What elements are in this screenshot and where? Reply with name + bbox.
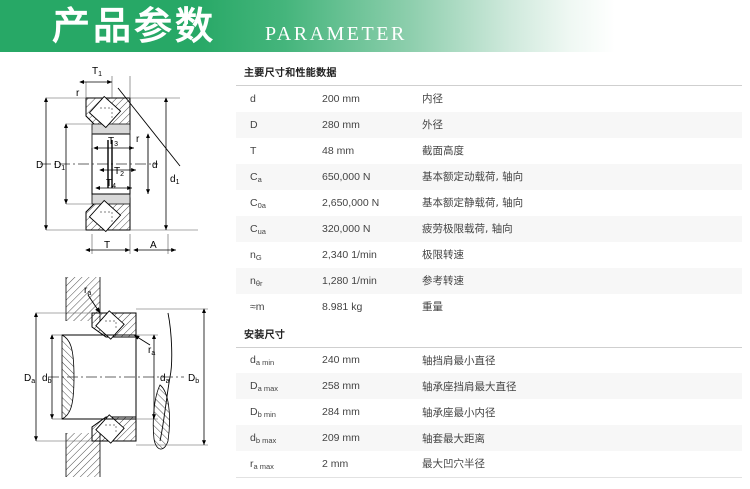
table-row: Ca 650,000 N 基本额定动载荷, 轴向	[236, 164, 742, 190]
row-symbol: da min	[236, 347, 322, 373]
row-symbol: C0a	[236, 190, 322, 216]
table-row: Db min 284 mm 轴承座最小内径	[236, 399, 742, 425]
row-description: 疲劳极限载荷, 轴向	[420, 216, 742, 242]
row-description: 轴挡肩最小直径	[420, 347, 742, 373]
row-description: 轴承座最小内径	[420, 399, 742, 425]
row-symbol: nθr	[236, 268, 322, 294]
mounting-dimensions-table: da min 240 mm 轴挡肩最小直径 Da max 258 mm 轴承座挡…	[236, 347, 742, 478]
table-row: da min 240 mm 轴挡肩最小直径	[236, 347, 742, 373]
row-value: 2,340 1/min	[322, 242, 420, 268]
dim-label-db: db	[42, 373, 52, 385]
table-row: D 280 mm 外径	[236, 112, 742, 138]
row-description: 轴套最大距离	[420, 425, 742, 451]
row-symbol: db max	[236, 425, 322, 451]
dim-label-d: d	[152, 160, 158, 171]
dim-label-D: D	[36, 160, 43, 171]
row-symbol: Cua	[236, 216, 322, 242]
row-symbol: T	[236, 138, 322, 164]
dim-label-da: da	[160, 373, 170, 385]
row-description: 轴承座挡肩最大直径	[420, 373, 742, 399]
row-description: 截面高度	[420, 138, 742, 164]
page-header: 产品参数 PARAMETER	[0, 0, 750, 52]
row-symbol: Da max	[236, 373, 322, 399]
row-description: 最大凹穴半径	[420, 451, 742, 477]
dim-label-d1: d1	[170, 174, 180, 186]
row-description: 外径	[420, 112, 742, 138]
row-description: 极限转速	[420, 242, 742, 268]
row-value: 284 mm	[322, 399, 420, 425]
row-value: 209 mm	[322, 425, 420, 451]
row-value: 2 mm	[322, 451, 420, 477]
dim-label-T: T	[104, 240, 110, 251]
row-symbol: nG	[236, 242, 322, 268]
row-value: 1,280 1/min	[322, 268, 420, 294]
page-title-chinese: 产品参数	[52, 3, 216, 49]
table-row: db max 209 mm 轴套最大距离	[236, 425, 742, 451]
bearing-cross-section-drawing: T1 r T3 r T2 T4 D D1 d d1 T A	[8, 58, 226, 263]
table-row: d 200 mm 内径	[236, 86, 742, 112]
row-description: 基本额定动载荷, 轴向	[420, 164, 742, 190]
dim-label-Db: Db	[188, 373, 199, 385]
specification-panel: 主要尺寸和性能数据 d 200 mm 内径 D 280 mm 外径 T 48 m…	[236, 58, 742, 478]
row-description: 参考转速	[420, 268, 742, 294]
dim-label-r-top: r	[76, 88, 80, 99]
row-value: 240 mm	[322, 347, 420, 373]
dim-label-A: A	[150, 240, 157, 251]
table-row: nG 2,340 1/min 极限转速	[236, 242, 742, 268]
row-value: 320,000 N	[322, 216, 420, 242]
table-row: ra max 2 mm 最大凹穴半径	[236, 451, 742, 477]
table-row: ≈m 8.981 kg 重量	[236, 294, 742, 320]
row-value: 650,000 N	[322, 164, 420, 190]
row-value: 2,650,000 N	[322, 190, 420, 216]
dim-label-r-mid: r	[136, 134, 140, 145]
mounting-dimensions-rows: da min 240 mm 轴挡肩最小直径 Da max 258 mm 轴承座挡…	[236, 347, 742, 477]
section-heading-main-dimensions: 主要尺寸和性能数据	[236, 58, 742, 85]
table-row: Da max 258 mm 轴承座挡肩最大直径	[236, 373, 742, 399]
row-symbol: d	[236, 86, 322, 112]
row-value: 200 mm	[322, 86, 420, 112]
table-row: T 48 mm 截面高度	[236, 138, 742, 164]
technical-drawings: T1 r T3 r T2 T4 D D1 d d1 T A	[8, 58, 226, 482]
row-symbol: Db min	[236, 399, 322, 425]
row-symbol: Ca	[236, 164, 322, 190]
section-heading-mounting-dimensions: 安装尺寸	[236, 320, 742, 347]
row-symbol: D	[236, 112, 322, 138]
row-value: 48 mm	[322, 138, 420, 164]
row-description: 基本额定静载荷, 轴向	[420, 190, 742, 216]
mounting-arrangement-drawing: ra ra Da db da Db	[8, 273, 226, 478]
row-symbol: ≈m	[236, 294, 322, 320]
dim-label-T1: T1	[92, 66, 102, 78]
row-symbol: ra max	[236, 451, 322, 477]
row-value: 280 mm	[322, 112, 420, 138]
dim-label-Da: Da	[24, 373, 35, 385]
row-description: 重量	[420, 294, 742, 320]
page-title-english: PARAMETER	[265, 22, 407, 46]
table-row: Cua 320,000 N 疲劳极限载荷, 轴向	[236, 216, 742, 242]
table-row: nθr 1,280 1/min 参考转速	[236, 268, 742, 294]
row-description: 内径	[420, 86, 742, 112]
main-dimensions-table: d 200 mm 内径 D 280 mm 外径 T 48 mm 截面高度 Ca …	[236, 85, 742, 320]
table-row: C0a 2,650,000 N 基本额定静载荷, 轴向	[236, 190, 742, 216]
row-value: 8.981 kg	[322, 294, 420, 320]
row-value: 258 mm	[322, 373, 420, 399]
dim-label-D1: D1	[54, 160, 65, 172]
main-dimensions-rows: d 200 mm 内径 D 280 mm 外径 T 48 mm 截面高度 Ca …	[236, 86, 742, 320]
